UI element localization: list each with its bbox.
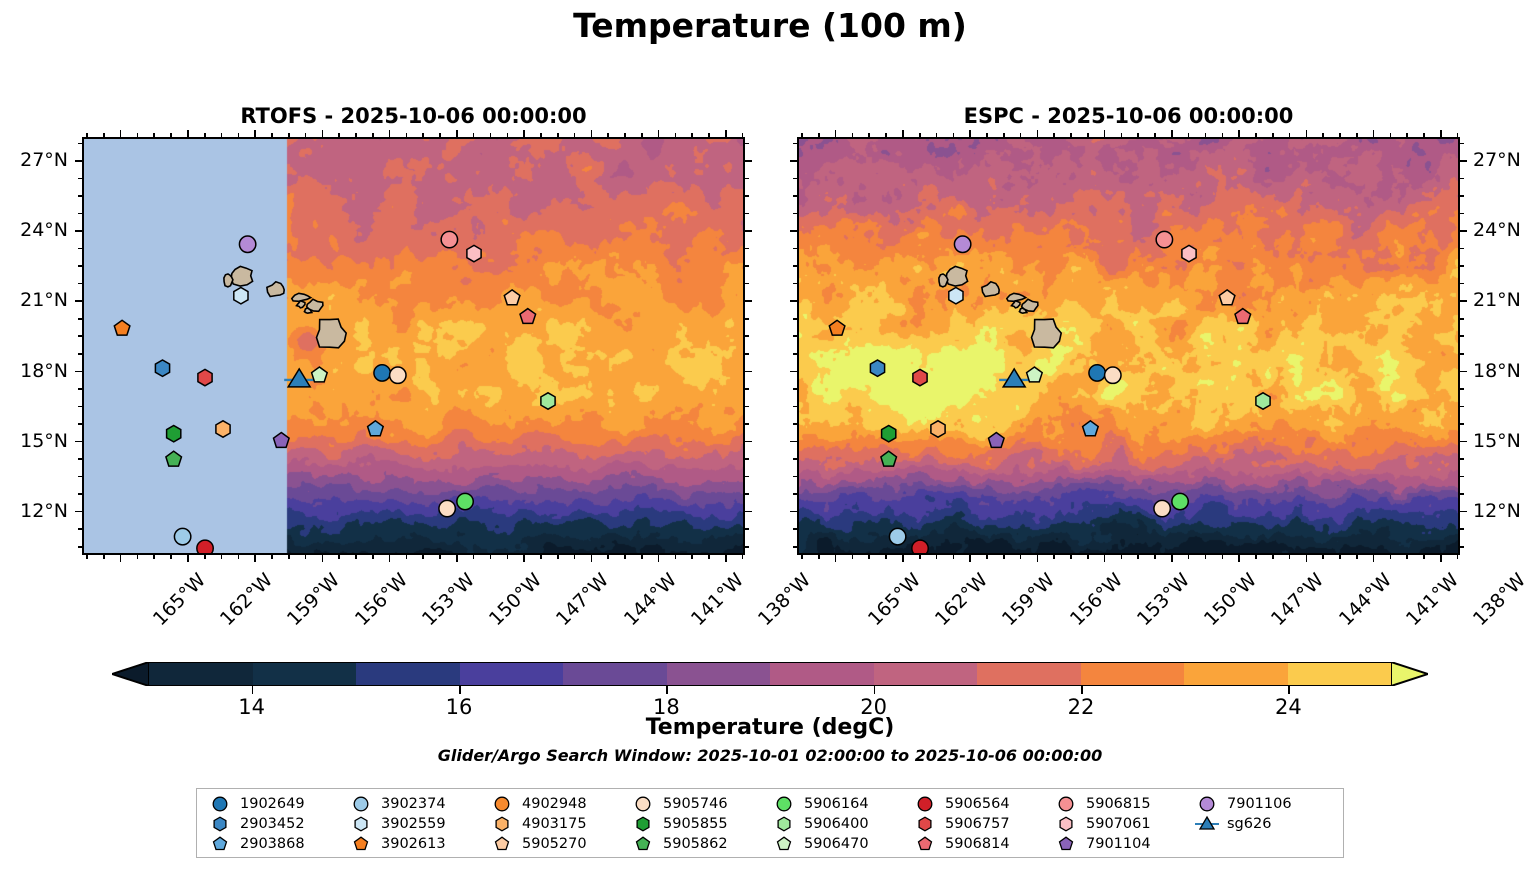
y-minor-tick [793,265,797,267]
y-axis-label: 15°N [1473,430,1540,452]
x-major-tick [1373,555,1375,562]
legend-marker-hexagon-icon [348,815,374,833]
argo-marker-2903452[interactable] [870,360,884,376]
legend-label: 5905746 [663,796,728,812]
x-minor-tick [557,555,559,559]
legend-label: 2903868 [240,836,305,852]
y-major-tick [75,511,82,513]
x-major-tick-top [1373,130,1375,137]
x-minor-tick [1070,133,1072,137]
y-axis-label: 15°N [0,430,68,452]
legend-item-3902559[interactable]: 3902559 [348,814,489,834]
x-minor-tick [708,555,710,559]
legend-label: 5906400 [804,816,869,832]
y-axis-label: 24°N [1473,219,1540,241]
x-major-tick-top [120,130,122,137]
argo-marker-5906164[interactable] [1172,493,1188,509]
legend-item-5905862[interactable]: 5905862 [630,834,771,854]
legend-label: 5906757 [945,816,1010,832]
map-panel-espc[interactable]: ESPC - 2025-10-06 00:00:00165°W162°W159°… [797,137,1460,555]
argo-marker-5905746[interactable] [1154,500,1170,516]
legend-label: sg626 [1227,816,1271,832]
argo-marker-7901106[interactable] [239,236,255,252]
argo-marker-5906757[interactable] [198,369,212,385]
x-axis-label: 156°W [1066,569,1127,630]
argo-marker-5905862[interactable] [166,451,182,466]
colorbar-band-9 [1081,663,1185,685]
legend-item-5906564[interactable]: 5906564 [912,794,1053,814]
argo-marker-3902613[interactable] [114,320,130,335]
y-major-tick-right [745,371,752,373]
argo-marker-4903175[interactable] [216,421,230,437]
x-minor-tick [1121,555,1123,559]
colorbar-band-2 [356,663,460,685]
y-minor-tick [78,406,82,408]
y-minor-tick [745,283,749,285]
y-minor-tick [745,318,749,320]
x-minor-tick [338,133,340,137]
x-minor-tick [1053,555,1055,559]
x-minor-tick [1154,133,1156,137]
legend-label: 5906815 [1086,796,1151,812]
y-minor-tick [793,318,797,320]
y-minor-tick [1460,178,1464,180]
y-minor-tick [1460,353,1464,355]
x-minor-tick [355,555,357,559]
x-major-tick-top [725,130,727,137]
legend-marker-hexagon-icon [1053,815,1079,833]
legend-item-5906470[interactable]: 5906470 [771,834,912,854]
x-major-tick-top [1037,130,1039,137]
x-minor-tick [1070,555,1072,559]
colorbar: 141618202224 [112,659,1428,689]
argo-marker-5907061[interactable] [467,245,481,261]
argo-marker-5906815[interactable] [1156,231,1172,247]
x-minor-tick [1289,555,1291,559]
platform-legend[interactable]: 1902649290345229038683902374390255939026… [196,788,1344,858]
x-major-tick [1238,555,1240,562]
argo-marker-5905270[interactable] [504,290,520,305]
y-major-tick-right [745,300,752,302]
x-minor-tick [103,133,105,137]
y-minor-tick [1460,318,1464,320]
x-minor-tick [624,133,626,137]
x-minor-tick [1137,133,1139,137]
x-minor-tick [1339,555,1341,559]
y-major-tick-right [745,160,752,162]
argo-marker-5905862[interactable] [881,451,897,466]
y-minor-tick [793,458,797,460]
x-minor-tick [868,133,870,137]
legend-item-5905855[interactable]: 5905855 [630,814,771,834]
x-major-tick-top [187,130,189,137]
x-minor-tick [170,133,172,137]
y-axis-label: 27°N [1473,149,1540,171]
x-major-tick-top [1238,130,1240,137]
argo-marker-7901106[interactable] [954,236,970,252]
colorbar-band-1 [253,663,357,685]
y-minor-tick [1460,476,1464,478]
legend-item-2903452[interactable]: 2903452 [207,814,348,834]
argo-marker-1902649[interactable] [1089,365,1105,381]
x-major-tick [523,555,525,562]
x-minor-tick [439,555,441,559]
argo-marker-5906564[interactable] [197,540,213,555]
x-minor-tick [288,133,290,137]
y-major-tick-right [1460,230,1467,232]
argo-marker-2903868[interactable] [368,421,384,436]
x-major-tick-top [1171,130,1173,137]
y-minor-tick [745,458,749,460]
x-axis-label: 150°W [485,569,546,630]
legend-label: 3902374 [381,796,446,812]
x-minor-tick [1053,133,1055,137]
argo-marker-5906164[interactable] [457,493,473,509]
legend-marker-circle-icon [771,795,797,813]
x-major-tick [456,555,458,562]
x-axis-label: 150°W [1200,569,1261,630]
y-minor-tick [745,178,749,180]
legend-item-5906400[interactable]: 5906400 [771,814,912,834]
argo-marker-5906757[interactable] [913,369,927,385]
argo-marker-5907061[interactable] [1182,245,1196,261]
x-minor-tick [372,133,374,137]
legend-item-5906815[interactable]: 5906815 [1053,794,1194,814]
x-minor-tick [1255,133,1257,137]
y-minor-tick [745,528,749,530]
x-minor-tick [641,555,643,559]
argo-marker-3902559[interactable] [234,288,248,304]
x-minor-tick [1020,555,1022,559]
legend-item-5907061[interactable]: 5907061 [1053,814,1194,834]
y-axis-label: 21°N [1473,289,1540,311]
y-minor-tick [793,283,797,285]
argo-marker-7901104[interactable] [989,433,1005,448]
island-oahu [982,282,999,297]
legend-marker-pentagon-icon [1053,835,1079,853]
x-minor-tick [574,555,576,559]
x-minor-tick [1003,555,1005,559]
x-minor-tick [885,133,887,137]
y-minor-tick [745,546,749,548]
legend-item-2903868[interactable]: 2903868 [207,834,348,854]
island-niihau [224,274,233,287]
legend-item-3902374[interactable]: 3902374 [348,794,489,814]
x-major-tick-top [835,130,837,137]
x-major-tick [1440,555,1442,562]
x-minor-tick [204,555,206,559]
map-overlay [799,139,1458,553]
argo-marker-3902374[interactable] [889,528,905,544]
x-minor-tick [406,133,408,137]
x-axis-label: 162°W [216,569,277,630]
y-major-tick [790,441,797,443]
map-area-rtofs[interactable] [82,137,745,555]
y-axis-label: 12°N [1473,500,1540,522]
colorbar-axis-label: Temperature (degC) [0,715,1540,740]
argo-marker-5906815[interactable] [441,231,457,247]
x-major-tick [120,555,122,562]
y-major-tick [790,300,797,302]
y-minor-tick [793,388,797,390]
argo-marker-sg626[interactable] [284,369,314,387]
legend-marker-pentagon-icon [771,835,797,853]
y-axis-label: 24°N [0,219,68,241]
argo-marker-5905746[interactable] [1105,367,1121,383]
x-minor-tick [607,555,609,559]
island-molokai [1007,293,1026,301]
legend-marker-pentagon-icon [489,835,515,853]
y-minor-tick [793,143,797,145]
legend-marker-pentagon-icon [348,835,374,853]
x-axis-label: 156°W [351,569,412,630]
y-major-tick-right [1460,371,1467,373]
colorbar-band-8 [977,663,1081,685]
y-major-tick [790,511,797,513]
legend-item-5905270[interactable]: 5905270 [489,834,630,854]
y-minor-tick [745,265,749,267]
x-axis-label: 162°W [931,569,992,630]
x-minor-tick [1339,133,1341,137]
x-minor-tick [953,555,955,559]
y-minor-tick [745,353,749,355]
x-minor-tick [1356,133,1358,137]
argo-marker-5906814[interactable] [520,309,536,324]
island-niihau [939,274,948,287]
x-axis-label: 141°W [687,569,748,630]
colorbar-band-7 [874,663,978,685]
colorbar-tick [252,686,254,694]
x-minor-tick [271,555,273,559]
argo-marker-3902374[interactable] [174,528,190,544]
legend-item-5906164[interactable]: 5906164 [771,794,912,814]
colorbar-extend-left-icon [112,662,149,686]
y-major-tick [790,160,797,162]
x-minor-tick [742,555,744,559]
legend-marker-glider-icon [1194,815,1220,833]
x-minor-tick [153,555,155,559]
x-minor-tick [103,555,105,559]
argo-marker-5905855[interactable] [167,426,181,442]
y-major-tick [790,371,797,373]
legend-marker-circle-icon [912,795,938,813]
argo-marker-3902613[interactable] [829,320,845,335]
x-axis-label: 153°W [418,569,479,630]
x-minor-tick [271,133,273,137]
x-minor-tick [490,133,492,137]
y-minor-tick [78,546,82,548]
x-minor-tick [818,133,820,137]
y-minor-tick [745,248,749,250]
island-kauai [946,266,968,286]
x-minor-tick [1272,133,1274,137]
map-area-espc[interactable] [797,137,1460,555]
legend-item-1902649[interactable]: 1902649 [207,794,348,814]
colorbar-band-5 [667,663,771,685]
argo-marker-5905270[interactable] [1219,290,1235,305]
x-major-tick [902,555,904,562]
y-major-tick [790,230,797,232]
x-major-tick [1306,555,1308,562]
x-minor-tick [1423,555,1425,559]
x-major-tick-top [969,130,971,137]
x-major-tick [835,555,837,562]
x-major-tick-top [322,130,324,137]
y-minor-tick [793,213,797,215]
y-minor-tick [78,476,82,478]
x-minor-tick [986,133,988,137]
x-minor-tick [406,555,408,559]
x-minor-tick [1205,555,1207,559]
x-minor-tick [852,555,854,559]
y-minor-tick [78,353,82,355]
y-minor-tick [78,178,82,180]
x-minor-tick [801,555,803,559]
legend-item-5906814[interactable]: 5906814 [912,834,1053,854]
map-panel-rtofs[interactable]: RTOFS - 2025-10-06 00:00:00165°W162°W159… [82,137,745,555]
legend-marker-circle-icon [348,795,374,813]
y-major-tick [75,441,82,443]
x-major-tick [389,555,391,562]
x-axis-label: 141°W [1402,569,1463,630]
argo-marker-5906470[interactable] [1027,367,1043,382]
x-minor-tick [221,555,223,559]
x-minor-tick [708,133,710,137]
y-minor-tick [78,388,82,390]
y-minor-tick [1460,388,1464,390]
x-minor-tick [473,133,475,137]
argo-marker-5906400[interactable] [541,393,555,409]
argo-marker-5906814[interactable] [1235,309,1251,324]
y-minor-tick [1460,423,1464,425]
legend-label: 5906470 [804,836,869,852]
x-major-tick-top [389,130,391,137]
x-major-tick [254,555,256,562]
argo-marker-2903868[interactable] [1083,421,1099,436]
x-minor-tick [422,133,424,137]
y-minor-tick [78,195,82,197]
argo-marker-sg626[interactable] [999,369,1029,387]
legend-item-7901104[interactable]: 7901104 [1053,834,1194,854]
legend-label: 4902948 [522,796,587,812]
x-minor-tick [691,555,693,559]
x-minor-tick [1222,555,1224,559]
y-minor-tick [1460,458,1464,460]
y-minor-tick [793,476,797,478]
legend-item-5906757[interactable]: 5906757 [912,814,1053,834]
island-hawaii [317,319,347,348]
y-minor-tick [78,213,82,215]
colorbar-tick [1288,686,1290,694]
legend-marker-circle-icon [489,795,515,813]
legend-item-4903175[interactable]: 4903175 [489,814,630,834]
x-major-tick [725,555,727,562]
y-minor-tick [793,493,797,495]
colorbar-band-10 [1184,663,1288,685]
colorbar-extend-right-icon [1391,662,1428,686]
colorbar-tick [666,686,668,694]
legend-item-3902613[interactable]: 3902613 [348,834,489,854]
argo-marker-5905746[interactable] [390,367,406,383]
x-minor-tick [742,133,744,137]
legend-item-7901106[interactable]: 7901106 [1194,794,1335,814]
legend-item-sg626[interactable]: sg626 [1194,814,1335,834]
x-minor-tick [691,133,693,137]
x-minor-tick [1457,133,1459,137]
x-major-tick-top [1440,130,1442,137]
x-axis-label: 159°W [283,569,344,630]
x-minor-tick [422,555,424,559]
y-minor-tick [793,528,797,530]
legend-marker-hexagon-icon [630,815,656,833]
legend-label: 5907061 [1086,816,1151,832]
x-major-tick-top [1306,130,1308,137]
x-minor-tick [473,555,475,559]
legend-marker-pentagon-icon [207,835,233,853]
y-minor-tick [793,335,797,337]
legend-item-4902948[interactable]: 4902948 [489,794,630,814]
x-minor-tick [1222,133,1224,137]
x-minor-tick [86,555,88,559]
y-major-tick-right [1460,511,1467,513]
argo-marker-4903175[interactable] [931,421,945,437]
x-minor-tick [540,555,542,559]
legend-label: 5906814 [945,836,1010,852]
x-minor-tick [86,133,88,137]
argo-marker-7901104[interactable] [274,433,290,448]
legend-item-5905746[interactable]: 5905746 [630,794,771,814]
legend-label: 3902613 [381,836,446,852]
legend-label: 5905862 [663,836,728,852]
x-minor-tick [507,133,509,137]
x-major-tick [1037,555,1039,562]
argo-marker-1902649[interactable] [374,365,390,381]
legend-label: 7901104 [1086,836,1151,852]
x-axis-label: 144°W [1334,569,1395,630]
x-minor-tick [868,555,870,559]
argo-marker-3902559[interactable] [949,288,963,304]
island-kauai [231,266,253,286]
x-minor-tick [1406,133,1408,137]
x-major-tick-top [658,130,660,137]
y-minor-tick [745,195,749,197]
colorbar-band-6 [770,663,874,685]
y-major-tick [75,300,82,302]
y-minor-tick [1460,546,1464,548]
argo-marker-5905746[interactable] [439,500,455,516]
x-axis-label: 147°W [552,569,613,630]
argo-marker-5906400[interactable] [1256,393,1270,409]
y-major-tick [75,230,82,232]
y-axis-label: 21°N [0,289,68,311]
island-molokai [292,293,311,301]
x-major-tick-top [1104,130,1106,137]
argo-marker-2903452[interactable] [155,360,169,376]
x-major-tick [1171,555,1173,562]
y-minor-tick [793,248,797,250]
argo-marker-5906564[interactable] [912,540,928,555]
x-minor-tick [1121,133,1123,137]
y-major-tick-right [745,511,752,513]
x-minor-tick [355,133,357,137]
x-minor-tick [507,555,509,559]
y-major-tick-right [1460,160,1467,162]
argo-marker-5906470[interactable] [312,367,328,382]
argo-marker-5905855[interactable] [882,426,896,442]
y-minor-tick [745,388,749,390]
x-minor-tick [1020,133,1022,137]
x-minor-tick [1087,555,1089,559]
